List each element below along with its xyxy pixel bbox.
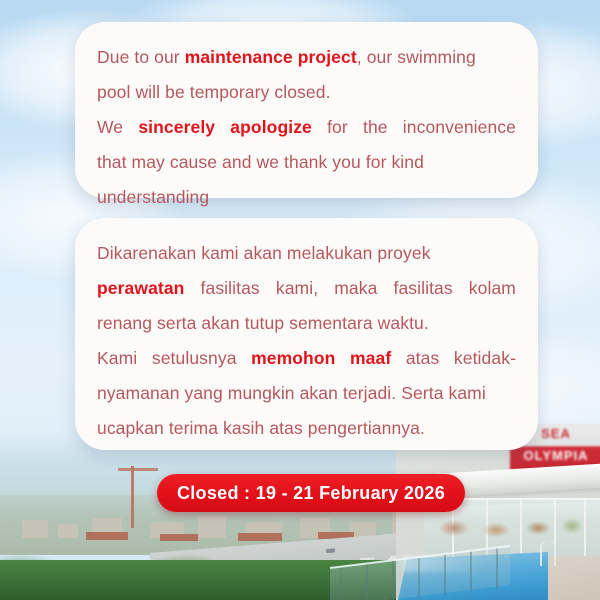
closed-dates-banner: Closed : 19 - 21 February 2026 (157, 474, 465, 512)
crane-jib (118, 468, 158, 471)
closed-dates-label: Closed : 19 - 21 February 2026 (177, 483, 445, 504)
body-text: renang serta akan tutup sementara waktu. (97, 313, 429, 333)
english-notice-card: Due to our maintenance project, our swim… (75, 22, 538, 198)
railing-post (418, 558, 420, 598)
body-text: nyamanan yang mungkin akan terjadi. Sert… (97, 383, 486, 403)
railing-post (366, 564, 368, 600)
body-text: for the inconvenience (312, 117, 516, 137)
railing-post (444, 555, 446, 595)
emphasis-text: memohon maaf (251, 348, 391, 368)
railing-post (340, 568, 342, 600)
body-text: that may cause and we thank you for kind (97, 152, 424, 172)
emphasis-text: maintenance project (185, 47, 357, 67)
emphasis-text: perawatan (97, 278, 184, 298)
body-text: atas ketidak- (391, 348, 516, 368)
body-text: We (97, 117, 138, 137)
notice-line: understanding (97, 180, 516, 215)
body-text: pool will be temporary closed. (97, 82, 331, 102)
lounge-furniture (434, 506, 594, 542)
english-notice-text: Due to our maintenance project, our swim… (75, 22, 538, 215)
sign-line-2: OLYMPIA (510, 448, 600, 463)
notice-line: nyamanan yang mungkin akan terjadi. Sert… (97, 376, 516, 411)
pool-ladder (540, 540, 556, 566)
body-text: understanding (97, 187, 209, 207)
construction-crane (131, 466, 134, 528)
indonesian-notice-text: Dikarenakan kami akan melakukan proyekpe… (75, 218, 538, 446)
notice-line: Due to our maintenance project, our swim… (97, 40, 516, 75)
indonesian-notice-card: Dikarenakan kami akan melakukan proyekpe… (75, 218, 538, 450)
notice-line: Kami setulusnya memohon maaf atas ketida… (97, 341, 516, 376)
body-text: Dikarenakan kami akan melakukan proyek (97, 243, 431, 263)
pool-closure-announcement-poster: SEA OLYMPIA Due to our maintenan (0, 0, 600, 600)
notice-line: that may cause and we thank you for kind (97, 145, 516, 180)
notice-line: renang serta akan tutup sementara waktu. (97, 306, 516, 341)
notice-line: We sincerely apologize for the inconveni… (97, 110, 516, 145)
body-text: Due to our (97, 47, 185, 67)
body-text: fasilitas kami, maka fasilitas kolam (184, 278, 516, 298)
railing-post (470, 552, 472, 592)
body-text: ucapkan terima kasih atas pengertiannya. (97, 418, 425, 438)
emphasis-text: sincerely apologize (138, 117, 312, 137)
railing-post (392, 561, 394, 600)
railing-post (496, 548, 498, 588)
body-text: , our swimming (357, 47, 476, 67)
body-text: Kami setulusnya (97, 348, 251, 368)
notice-line: Dikarenakan kami akan melakukan proyek (97, 236, 516, 271)
notice-line: perawatan fasilitas kami, maka fasilitas… (97, 271, 516, 306)
notice-line: pool will be temporary closed. (97, 75, 516, 110)
notice-line: ucapkan terima kasih atas pengertiannya. (97, 411, 516, 446)
